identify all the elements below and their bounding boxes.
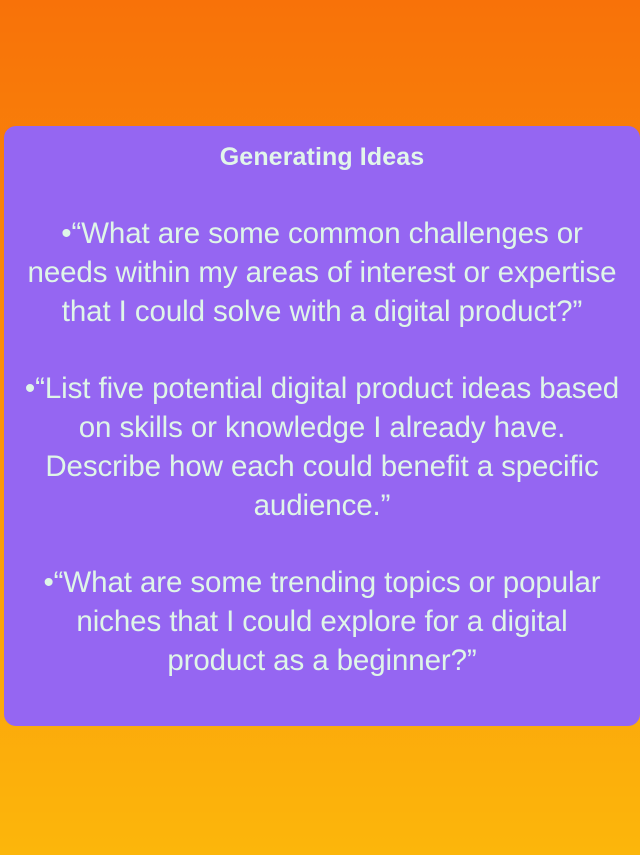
poster-canvas: Generating Ideas •“What are some common …: [0, 0, 640, 855]
prompt-spacer-2: [24, 525, 620, 563]
prompt-spacer-1: [24, 331, 620, 369]
prompt-item-2: •“List five potential digital product id…: [24, 369, 620, 525]
idea-prompt-card: Generating Ideas •“What are some common …: [4, 126, 640, 726]
prompt-item-3: •“What are some trending topics or popul…: [24, 563, 620, 680]
title-spacer: [24, 172, 620, 214]
card-title: Generating Ideas: [24, 142, 620, 172]
prompt-list: •“What are some common challenges or nee…: [24, 214, 620, 680]
prompt-item-1: •“What are some common challenges or nee…: [24, 214, 620, 331]
